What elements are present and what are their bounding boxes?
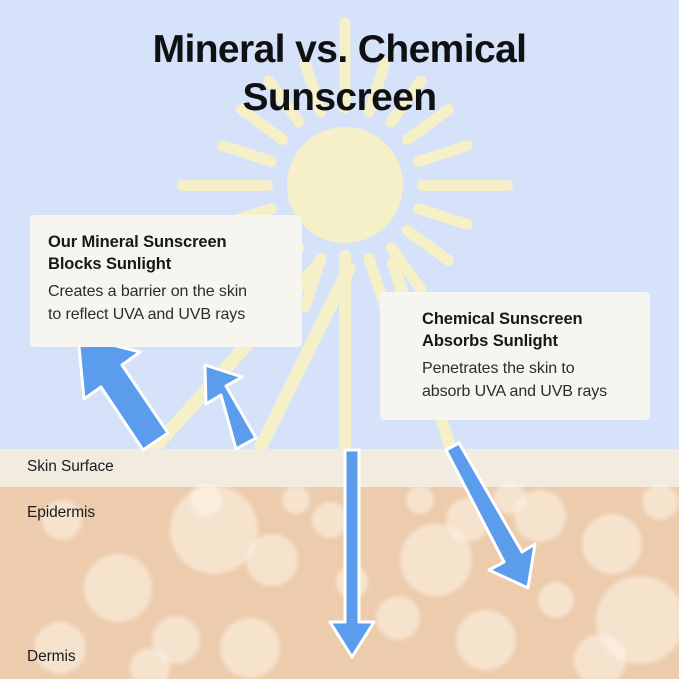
reflection-arrow-right xyxy=(205,365,256,449)
callout-mineral-sunscreen: Our Mineral Sunscreen Blocks Sunlight Cr… xyxy=(30,215,302,347)
callout-chemical-sunscreen: Chemical Sunscreen Absorbs Sunlight Pene… xyxy=(380,292,650,420)
layer-label-skin-surface: Skin Surface xyxy=(27,458,114,476)
penetration-arrow-diagonal xyxy=(446,443,535,588)
layer-label-epidermis: Epidermis xyxy=(27,504,95,522)
page-title: Mineral vs. Chemical Sunscreen xyxy=(0,26,679,122)
penetration-arrow-vertical xyxy=(330,450,374,657)
reflection-arrow-left xyxy=(78,336,168,450)
callout-chemical-heading: Chemical Sunscreen Absorbs Sunlight xyxy=(398,308,632,352)
layer-label-dermis: Dermis xyxy=(27,648,75,666)
callout-chemical-body: Penetrates the skin to absorb UVA and UV… xyxy=(398,357,632,403)
callout-mineral-heading: Our Mineral Sunscreen Blocks Sunlight xyxy=(48,231,284,275)
callout-mineral-body: Creates a barrier on the skin to reflect… xyxy=(48,280,284,326)
infographic-canvas: Mineral vs. Chemical Sunscreen Our Miner… xyxy=(0,0,679,679)
